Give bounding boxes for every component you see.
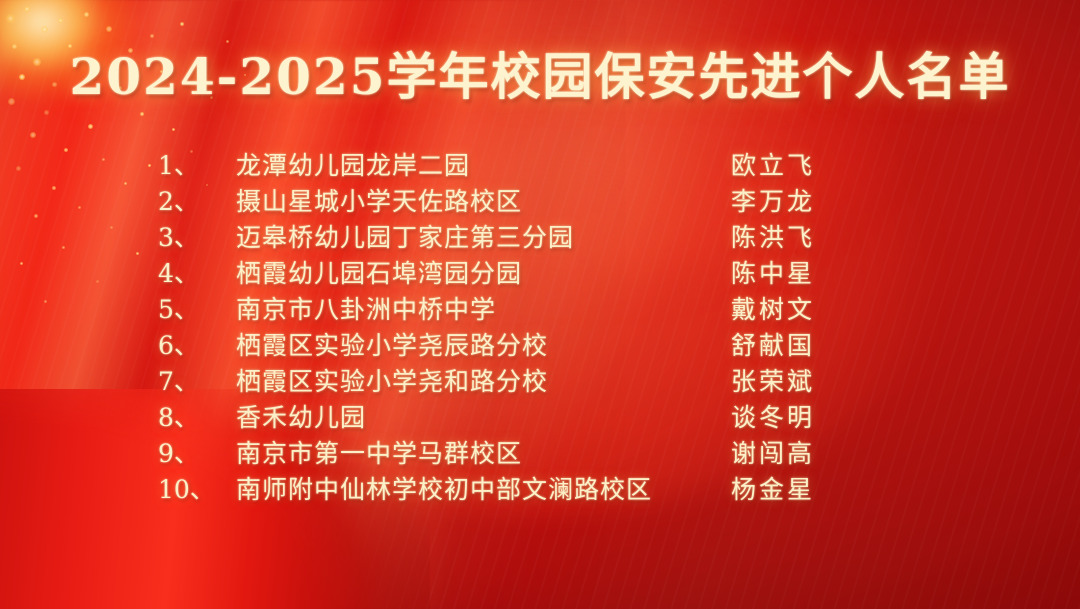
page-title: 2024-2025学年校园保安先进个人名单 (0, 50, 1080, 103)
list-item-index: 2、 (158, 184, 236, 220)
list-item: 5、南京市八卦洲中桥中学戴树文 (0, 292, 1080, 328)
list-item-index: 4、 (158, 256, 236, 292)
list-item: 10、南师附中仙林学校初中部文澜路校区杨金星 (0, 472, 1080, 508)
list-item-organization: 栖霞区实验小学尧和路分校 (236, 364, 548, 400)
list-item-organization: 南京市第一中学马群校区 (236, 436, 522, 472)
list-item-index: 6、 (158, 328, 236, 364)
list-item-person: 陈洪飞 (731, 220, 815, 256)
list-item-index: 7、 (158, 364, 236, 400)
list-item-person: 戴树文 (731, 292, 815, 328)
list-item-organization: 龙潭幼儿园龙岸二园 (236, 148, 470, 184)
list-item: 3、迈皋桥幼儿园丁家庄第三分园陈洪飞 (0, 220, 1080, 256)
list-item: 1、龙潭幼儿园龙岸二园欧立飞 (0, 148, 1080, 184)
list-item-person: 欧立飞 (731, 148, 815, 184)
list-item-person: 谈冬明 (731, 400, 815, 436)
list-item-organization: 南京市八卦洲中桥中学 (236, 292, 496, 328)
list-item: 2、摄山星城小学天佐路校区李万龙 (0, 184, 1080, 220)
list-item: 7、栖霞区实验小学尧和路分校张荣斌 (0, 364, 1080, 400)
list-item: 6、栖霞区实验小学尧辰路分校舒献国 (0, 328, 1080, 364)
poster-content: 2024-2025学年校园保安先进个人名单 1、龙潭幼儿园龙岸二园欧立飞2、摄山… (0, 0, 1080, 609)
list-item-organization: 栖霞幼儿园石埠湾园分园 (236, 256, 522, 292)
list-item: 4、栖霞幼儿园石埠湾园分园陈中星 (0, 256, 1080, 292)
list-item-index: 8、 (158, 400, 236, 436)
list-item-person: 舒献国 (731, 328, 815, 364)
list-item: 8、香禾幼儿园谈冬明 (0, 400, 1080, 436)
list-item-person: 张荣斌 (731, 364, 815, 400)
list-item-index: 9、 (158, 436, 236, 472)
list-item-organization: 摄山星城小学天佐路校区 (236, 184, 522, 220)
list-item: 9、南京市第一中学马群校区谢闯高 (0, 436, 1080, 472)
list-item-organization: 栖霞区实验小学尧辰路分校 (236, 328, 548, 364)
list-item-person: 杨金星 (731, 472, 815, 508)
list-item-organization: 香禾幼儿园 (236, 400, 366, 436)
list-item-organization: 迈皋桥幼儿园丁家庄第三分园 (236, 220, 574, 256)
list-item-person: 陈中星 (731, 256, 815, 292)
list-item-index: 10、 (158, 472, 236, 508)
award-list: 1、龙潭幼儿园龙岸二园欧立飞2、摄山星城小学天佐路校区李万龙3、迈皋桥幼儿园丁家… (0, 148, 1080, 508)
list-item-index: 3、 (158, 220, 236, 256)
list-item-person: 李万龙 (731, 184, 815, 220)
poster-canvas: 2024-2025学年校园保安先进个人名单 1、龙潭幼儿园龙岸二园欧立飞2、摄山… (0, 0, 1080, 609)
list-item-organization: 南师附中仙林学校初中部文澜路校区 (236, 472, 652, 508)
list-item-index: 1、 (158, 148, 236, 184)
list-item-index: 5、 (158, 292, 236, 328)
list-item-person: 谢闯高 (731, 436, 815, 472)
